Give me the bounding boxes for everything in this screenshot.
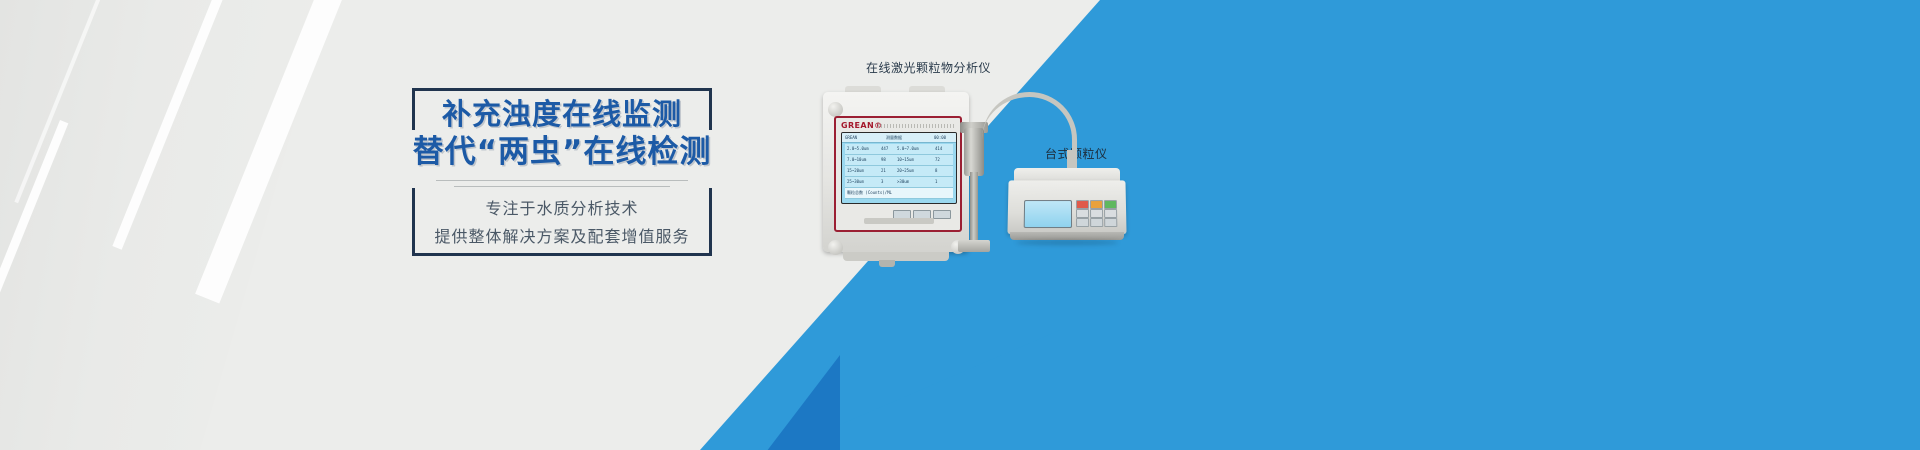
benchtop-display[interactable] [1024,200,1072,228]
lcd-r2-c2: 98 [881,157,886,162]
benchtop-base [1010,232,1124,240]
analyzer-front-panel: GREAN® GREAN 测量数据 00:00 2.0~5.0um 447 5.… [834,116,962,232]
lcd-r4-c2: 3 [881,179,883,184]
benchtop-key-7[interactable] [1076,218,1089,227]
lcd-r4-c1: 25~30um [847,179,864,184]
benchtop-key-8[interactable] [1090,218,1103,227]
divider-rule-2 [454,186,670,187]
headline-text: 补充浊度在线监测 替代“两虫”在线检测 [412,96,712,170]
headline-block: 补充浊度在线监测 替代“两虫”在线检测 专注于水质分析技术 提供整体解决方案及配… [412,88,712,256]
headline-line-2: 替代“两虫”在线检测 [412,134,712,170]
bracket-top-right-h [548,88,712,91]
brand-logo-grean: GREAN® [841,121,882,130]
lcd-data-row: 7.0~10um 98 10~15um 72 [845,155,953,166]
promo-banner: 补充浊度在线监测 替代“两虫”在线检测 专注于水质分析技术 提供整体解决方案及配… [0,0,1920,450]
label-online-analyzer: 在线激光颗粒物分析仪 [866,59,991,76]
sensor-stem [970,172,978,242]
lcd-r1-c4: 414 [935,146,942,151]
lcd-r2-c4: 72 [935,157,940,162]
lcd-status: 00:00 [934,135,946,140]
benchtop-chassis [1007,180,1126,234]
lcd-data-row: 15~20um 21 20~25um 8 [845,166,953,177]
lcd-footer-label: 颗粒总数 (Counts)/ML [847,190,892,196]
benchtop-key-4[interactable] [1076,209,1089,218]
analyzer-cable-port [879,260,895,267]
online-laser-particle-analyzer: GREAN® GREAN 测量数据 00:00 2.0~5.0um 447 5.… [823,84,969,259]
benchtop-key-2[interactable] [1090,200,1103,209]
lcd-footer-row: 颗粒总数 (Counts)/ML [845,188,953,199]
lcd-data-row: 25~30um 3 >30um 1 [845,177,953,188]
bracket-bottom-right-h [548,253,712,256]
sensor-base [958,240,990,252]
benchtop-key-5[interactable] [1090,209,1103,218]
benchtop-shadow [1016,240,1118,245]
analyzer-button-query[interactable] [933,210,951,219]
lcd-r1-c3: 5.0~7.0um [897,146,919,151]
analyzer-enclosure: GREAN® GREAN 测量数据 00:00 2.0~5.0um 447 5.… [823,92,969,252]
lcd-title: 测量数据 [886,135,902,141]
lcd-r3-c1: 15~20um [847,168,864,173]
analyzer-hinge-bottom-left [828,240,843,255]
lcd-r4-c4: 1 [935,179,937,184]
sensor-body [964,128,984,176]
benchtop-particle-counter [1008,168,1126,248]
analyzer-lcd-screen[interactable]: GREAN 测量数据 00:00 2.0~5.0um 447 5.0~7.0um… [841,132,957,204]
lcd-r3-c4: 8 [935,168,937,173]
benchtop-key-3[interactable] [1104,200,1117,209]
analyzer-nameplate [864,218,934,224]
lcd-r1-c2: 447 [881,146,888,151]
divider-rule-1 [436,180,688,181]
analyzer-hinge-top-left [828,102,843,117]
lcd-title-bar: GREAN 测量数据 00:00 [842,133,956,143]
lcd-r2-c1: 7.0~10um [847,157,866,162]
benchtop-key-9[interactable] [1104,218,1117,227]
subtitle-line-1: 专注于水质分析技术 [412,198,712,220]
benchtop-keypad[interactable] [1076,200,1116,226]
analyzer-vent-hatch [878,124,954,128]
lcd-r4-c3: >30um [897,179,909,184]
analyzer-bottom-housing [843,252,949,261]
benchtop-key-6[interactable] [1104,209,1117,218]
lcd-brand: GREAN [845,135,857,140]
lcd-r1-c1: 2.0~5.0um [847,146,869,151]
headline-line-1: 补充浊度在线监测 [412,96,712,132]
benchtop-key-1[interactable] [1076,200,1089,209]
lcd-data-row: 2.0~5.0um 447 5.0~7.0um 414 [845,144,953,155]
lcd-r3-c3: 20~25um [897,168,914,173]
lcd-r2-c3: 10~15um [897,157,914,162]
subtitle-line-2: 提供整体解决方案及配套增值服务 [412,226,712,248]
lcd-r3-c2: 21 [881,168,886,173]
brand-logo-text: GREAN [841,121,874,130]
